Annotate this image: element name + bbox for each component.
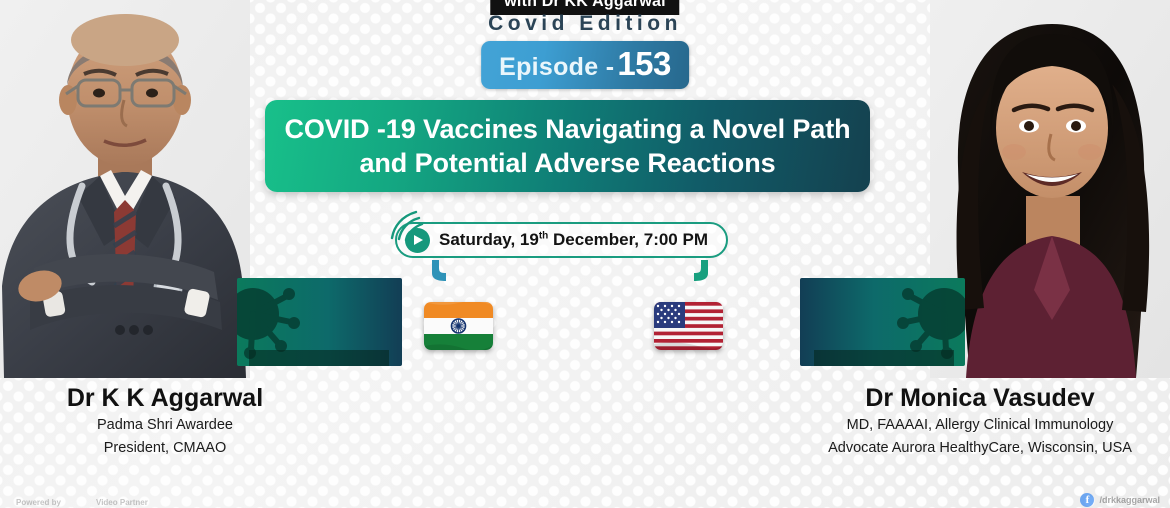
speaker-name: Dr Monica Vasudev <box>790 383 1170 414</box>
footer-bar: Powered by Video Partner f /drkkaggarwal <box>0 484 1170 508</box>
usa-flag <box>654 302 723 350</box>
india-flag <box>424 302 493 350</box>
speaker-credential-1: Padma Shri Awardee <box>0 414 330 436</box>
video-partner-label: Video Partner <box>96 498 148 507</box>
schedule-pill-wrapper: Saturday, 19th December, 7:00 PM <box>395 222 728 258</box>
webinar-poster: with Dr KK Aggarwal Covid Edition Episod… <box>0 0 1170 508</box>
schedule-rest: December, 7:00 PM <box>548 230 708 249</box>
episode-badge: Episode - 153 <box>481 41 689 89</box>
schedule-day: Saturday, 19 <box>439 230 539 249</box>
header: with Dr KK Aggarwal Covid Edition Episod… <box>0 0 1170 86</box>
speaker-credential-2: Advocate Aurora HealthyCare, Wisconsin, … <box>790 437 1170 459</box>
speaker-credential-1: MD, FAAAAI, Allergy Clinical Immunology <box>790 414 1170 436</box>
schedule-text: Saturday, 19th December, 7:00 PM <box>439 230 708 250</box>
bracket-left-icon <box>428 258 450 284</box>
episode-label: Episode - <box>499 53 614 82</box>
schedule-ordinal: th <box>539 230 548 241</box>
facebook-handle[interactable]: f /drkkaggarwal <box>1080 493 1160 507</box>
virus-graphic-right <box>800 278 965 366</box>
title-line-2: and Potential Adverse Reactions <box>359 146 775 180</box>
webinar-title-card: COVID -19 Vaccines Navigating a Novel Pa… <box>265 100 870 192</box>
powered-by-label: Powered by <box>16 498 61 507</box>
schedule-pill: Saturday, 19th December, 7:00 PM <box>395 222 728 258</box>
broadcast-waves-icon <box>386 208 428 242</box>
title-line-1: COVID -19 Vaccines Navigating a Novel Pa… <box>284 112 850 146</box>
bracket-right-icon <box>690 258 712 284</box>
edition-label: Covid Edition <box>488 12 682 36</box>
virus-graphic-left <box>237 278 402 366</box>
facebook-handle-text: /drkkaggarwal <box>1099 495 1160 505</box>
speaker-info-left: Dr K K Aggarwal Padma Shri Awardee Presi… <box>0 383 330 459</box>
speaker-credential-2: President, CMAAO <box>0 437 330 459</box>
facebook-icon: f <box>1080 493 1094 507</box>
speaker-name: Dr K K Aggarwal <box>0 383 330 414</box>
speaker-info-right: Dr Monica Vasudev MD, FAAAAI, Allergy Cl… <box>790 383 1170 459</box>
episode-number: 153 <box>617 45 671 83</box>
